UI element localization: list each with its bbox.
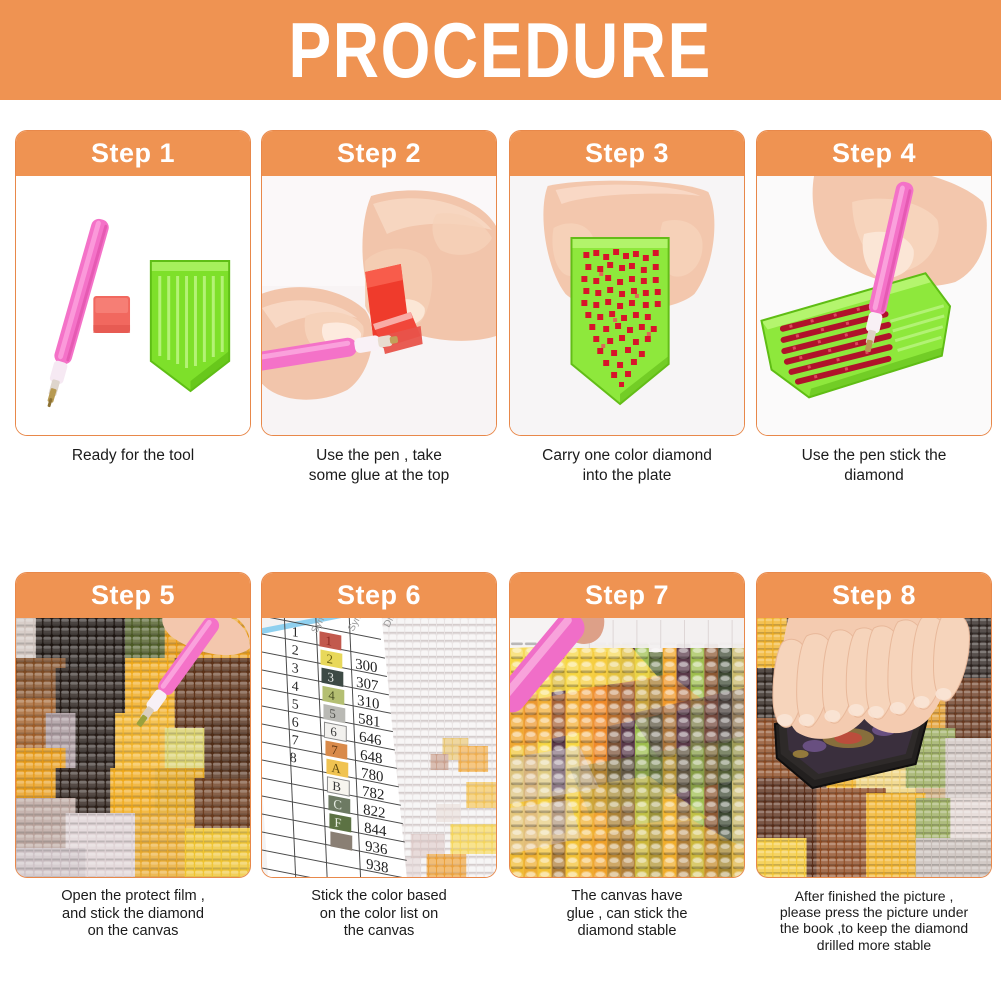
step-photo-container-1 [16,176,250,435]
step-caption-4: Use the pen stick the diamond [756,446,992,486]
step-caption-7: The canvas have glue , can stick the dia… [509,888,745,941]
steps-grid: Step 1 [0,100,1001,1001]
step-header-4: Step 4 [757,131,991,176]
step-cell-4: Step 4 [756,130,992,436]
step-card-8[interactable]: Step 8 [756,572,992,878]
step-card-1[interactable]: Step 1 [15,130,251,436]
step-cell-6: Step 6 [261,572,497,878]
step-card-7[interactable]: Step 7 [509,572,745,878]
step-header-1: Step 1 [16,131,250,176]
step-photo-container-5 [16,618,250,877]
dmc-color-chart-photo: 12 34 56 78 1 2 3 4 [262,618,496,877]
page-banner: PROCEDURE [0,0,1001,100]
tool-kit-photo [16,176,250,435]
step-cell-7: Step 7 [509,572,745,878]
press-with-book-photo [757,618,991,877]
step-header-3: Step 3 [510,131,744,176]
svg-text:7: 7 [292,732,299,749]
svg-text:4: 4 [328,687,335,703]
svg-text:2: 2 [326,651,332,667]
pour-diamonds-into-tray-photo [510,176,744,435]
step-header-5: Step 5 [16,573,250,618]
svg-text:5: 5 [292,696,299,713]
svg-text:8: 8 [290,750,297,767]
step-card-6[interactable]: Step 6 [261,572,497,878]
svg-text:2: 2 [292,642,299,659]
svg-text:3: 3 [327,669,334,685]
svg-text:3: 3 [292,660,299,677]
step-photo-container-8 [757,618,991,877]
svg-text:1: 1 [292,624,299,641]
step-header-label-2: Step 2 [337,140,421,167]
svg-text:7: 7 [331,742,338,758]
step-photo-container-3 [510,176,744,435]
step-photo-container-6: 12 34 56 78 1 2 3 4 [262,618,496,877]
step-cell-8: Step 8 [756,572,992,878]
svg-text:5: 5 [329,705,336,721]
step-cell-3: Step 3 [509,130,745,436]
step-card-4[interactable]: Step 4 [756,130,992,436]
steps-row-top: Step 1 [0,130,1001,570]
step-cell-1: Step 1 [15,130,251,436]
sunflower-canvas-pen-photo [16,618,250,877]
step-caption-6: Stick the color based on the color list … [261,888,497,941]
svg-text:C: C [333,796,342,813]
svg-text:B: B [332,778,341,795]
round-drills-macro-photo [510,618,744,877]
svg-text:A: A [331,760,341,777]
step-photo-container-7 [510,618,744,877]
procedure-infographic: PROCEDURE Step 1 [0,0,1001,1001]
step-caption-8: After finished the picture , please pres… [756,888,992,953]
step-card-5[interactable]: Step 5 [15,572,251,878]
step-header-2: Step 2 [262,131,496,176]
step-header-label-7: Step 7 [585,582,669,609]
step-cell-5: Step 5 [15,572,251,878]
step-header-6: Step 6 [262,573,496,618]
step-card-2[interactable]: Step 2 [261,130,497,436]
step-cell-2: Step 2 [261,130,497,436]
step-header-label-3: Step 3 [585,140,669,167]
step-card-3[interactable]: Step 3 [509,130,745,436]
step-header-8: Step 8 [757,573,991,618]
step-caption-2: Use the pen , take some glue at the top [261,446,497,486]
step-caption-1: Ready for the tool [15,446,251,466]
step-header-label-4: Step 4 [832,140,916,167]
svg-text:6: 6 [292,714,299,731]
step-header-label-6: Step 6 [337,582,421,609]
svg-text:4: 4 [292,678,299,695]
step-header-7: Step 7 [510,573,744,618]
step-caption-3: Carry one color diamond into the plate [509,446,745,486]
svg-text:F: F [334,814,341,830]
steps-row-bottom: Step 5 [0,572,1001,1002]
step-photo-container-2 [262,176,496,435]
step-photo-container-4 [757,176,991,435]
svg-text:1: 1 [325,633,331,649]
svg-text:6: 6 [330,723,337,739]
step-header-label-8: Step 8 [832,582,916,609]
pen-picking-diamond-photo [757,176,991,435]
step-caption-5: Open the protect film , and stick the di… [15,888,251,941]
pen-taking-glue-photo [262,176,496,435]
step-header-label-5: Step 5 [91,582,175,609]
page-title: PROCEDURE [289,11,712,89]
step-header-label-1: Step 1 [91,140,175,167]
